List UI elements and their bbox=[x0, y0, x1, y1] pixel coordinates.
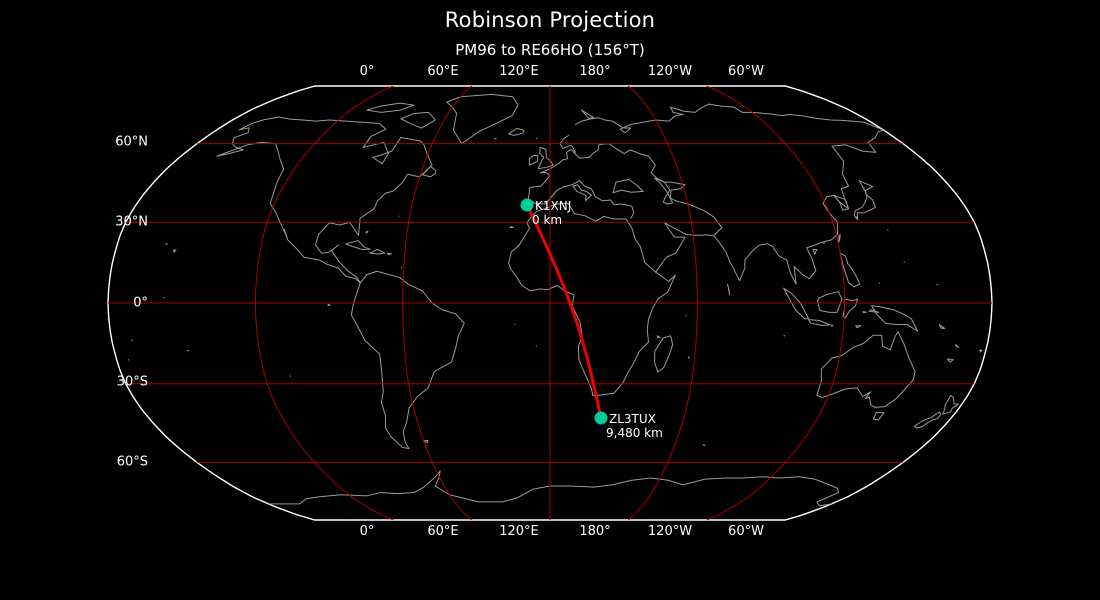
lon-tick-top-2: 120°E bbox=[499, 64, 539, 79]
coastline-segment bbox=[401, 112, 435, 128]
coastline-segment bbox=[269, 471, 839, 506]
coastline-segment bbox=[869, 310, 879, 313]
lon-tick-top-3: 180° bbox=[579, 64, 610, 79]
coastline-segment bbox=[387, 253, 391, 255]
coastline-segment bbox=[980, 350, 982, 352]
coastline-segment bbox=[863, 312, 867, 313]
coastline-segment bbox=[784, 288, 809, 319]
coastline-segment bbox=[914, 412, 941, 428]
coastline-segment bbox=[817, 332, 915, 408]
lon-tick-bottom-2: 120°E bbox=[499, 524, 539, 539]
coastlines bbox=[128, 94, 982, 505]
coastline-segment bbox=[573, 185, 592, 201]
coastline-segment bbox=[217, 117, 432, 283]
lon-tick-top-1: 60°E bbox=[427, 64, 458, 79]
coastline-segment bbox=[655, 336, 673, 372]
coastline-segment bbox=[834, 195, 849, 210]
coastline-segment bbox=[538, 147, 553, 168]
map-body: K1XNJ0 kmZL3TUX9,480 km bbox=[108, 86, 992, 520]
station-callsign-label: K1XNJ bbox=[535, 199, 571, 213]
coastline-segment bbox=[809, 320, 831, 326]
lat-tick-1: 30°N bbox=[0, 215, 148, 230]
coastline-segment bbox=[188, 350, 189, 351]
station-marker-zl3tux[interactable] bbox=[595, 412, 608, 425]
coastline-segment bbox=[657, 336, 660, 338]
coastline-segment bbox=[854, 181, 875, 220]
coastline-segment bbox=[166, 244, 167, 245]
coastline-segment bbox=[510, 227, 514, 228]
coastline-segment bbox=[509, 203, 676, 395]
coastline-segment bbox=[728, 284, 730, 295]
coastline-segment bbox=[509, 128, 524, 135]
lat-tick-2: 0° bbox=[0, 296, 148, 311]
coastline-segment bbox=[703, 445, 705, 446]
coastline-segment bbox=[843, 299, 858, 318]
lon-tick-bottom-1: 60°E bbox=[427, 524, 458, 539]
coastline-segment bbox=[346, 241, 371, 250]
lon-tick-bottom-4: 120°W bbox=[648, 524, 692, 539]
coastline-segment bbox=[529, 155, 537, 165]
map-figure: Robinson Projection PM96 to RE66HO (156°… bbox=[0, 0, 1100, 600]
coastline-segment bbox=[856, 326, 861, 328]
lat-tick-0: 60°N bbox=[0, 135, 148, 150]
coastline-segment bbox=[582, 110, 594, 118]
coastline-segment bbox=[613, 179, 643, 192]
coastline-segment bbox=[575, 104, 884, 133]
lon-tick-bottom-0: 0° bbox=[360, 524, 375, 539]
coastline-segment bbox=[609, 130, 884, 284]
coastline-segment bbox=[956, 345, 959, 348]
coastline-segment bbox=[656, 222, 714, 272]
station-callsign-label: ZL3TUX bbox=[609, 412, 656, 426]
coastline-segment bbox=[173, 250, 176, 252]
coastline-segment bbox=[370, 249, 385, 254]
coastline-segment bbox=[939, 325, 945, 329]
station-distance-label: 0 km bbox=[532, 213, 562, 227]
coastline-segment bbox=[351, 271, 464, 448]
station-distance-label: 9,480 km bbox=[606, 426, 663, 440]
coastline-segment bbox=[688, 357, 689, 358]
lon-tick-bottom-5: 60°W bbox=[728, 524, 764, 539]
coastline-segment bbox=[872, 306, 918, 332]
coastline-segment bbox=[873, 412, 884, 419]
coastline-segment bbox=[818, 292, 842, 313]
coastline-segment bbox=[813, 249, 817, 254]
lon-tick-top-0: 0° bbox=[360, 64, 375, 79]
coastline-segment bbox=[528, 144, 609, 199]
coastline-segment bbox=[839, 235, 841, 242]
coastline-segment bbox=[947, 359, 953, 362]
coastline-segment bbox=[328, 304, 330, 305]
robinson-map-canvas: K1XNJ0 kmZL3TUX9,480 km bbox=[0, 0, 1100, 600]
lat-tick-3: 30°S bbox=[0, 375, 148, 390]
lat-tick-4: 60°S bbox=[0, 455, 148, 470]
lon-tick-top-5: 60°W bbox=[728, 64, 764, 79]
coastline-segment bbox=[366, 231, 368, 233]
coastline-segment bbox=[447, 94, 518, 143]
lon-tick-top-4: 120°W bbox=[648, 64, 692, 79]
coastline-segment bbox=[832, 325, 833, 326]
lon-tick-bottom-3: 180° bbox=[579, 524, 610, 539]
graticule-lines bbox=[108, 86, 992, 520]
station-marker-k1xnj[interactable] bbox=[521, 199, 534, 212]
coastline-segment bbox=[367, 103, 414, 112]
coastline-segment bbox=[856, 217, 857, 218]
